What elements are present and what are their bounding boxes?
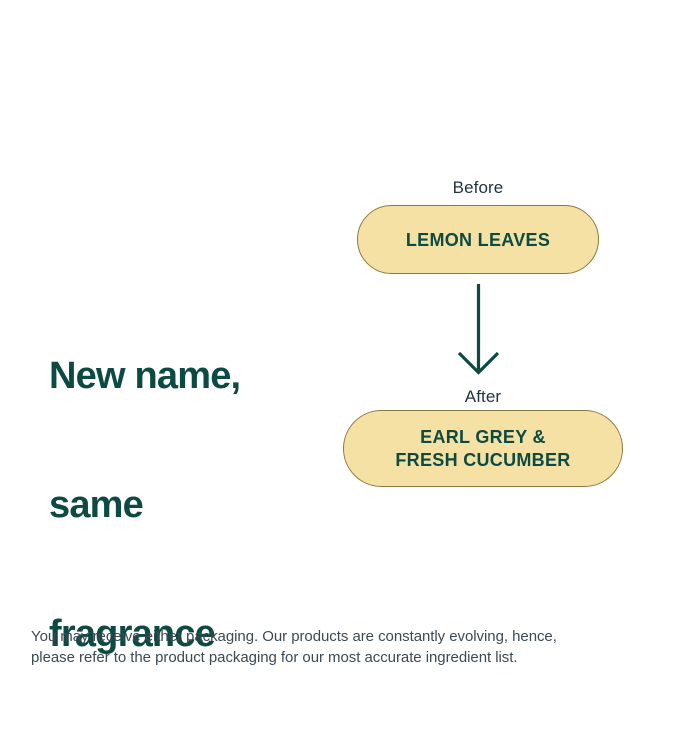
after-pill-line-1: EARL GREY & <box>395 426 570 449</box>
before-pill-line-1: LEMON LEAVES <box>406 229 550 251</box>
promo-graphic-canvas: New name, same fragrance Before LEMON LE… <box>0 0 679 679</box>
arrow-down-icon <box>449 280 509 380</box>
headline-line-1: New name, <box>49 355 349 398</box>
before-pill-text: LEMON LEAVES <box>406 229 550 251</box>
after-product-name-pill: EARL GREY & FRESH CUCUMBER <box>343 410 623 487</box>
after-pill-line-2: FRESH CUCUMBER <box>395 449 570 472</box>
before-caption: Before <box>357 178 599 198</box>
after-caption: After <box>343 387 623 407</box>
disclaimer-line-2: please refer to the product packaging fo… <box>31 647 651 668</box>
before-product-name-pill: LEMON LEAVES <box>357 205 599 274</box>
headline-line-2: same <box>49 484 349 527</box>
page-title: New name, same fragrance <box>49 269 349 742</box>
disclaimer-line-1: You may receive either packaging. Our pr… <box>31 626 651 647</box>
after-pill-text: EARL GREY & FRESH CUCUMBER <box>395 426 570 472</box>
disclaimer-text: You may receive either packaging. Our pr… <box>31 626 651 668</box>
